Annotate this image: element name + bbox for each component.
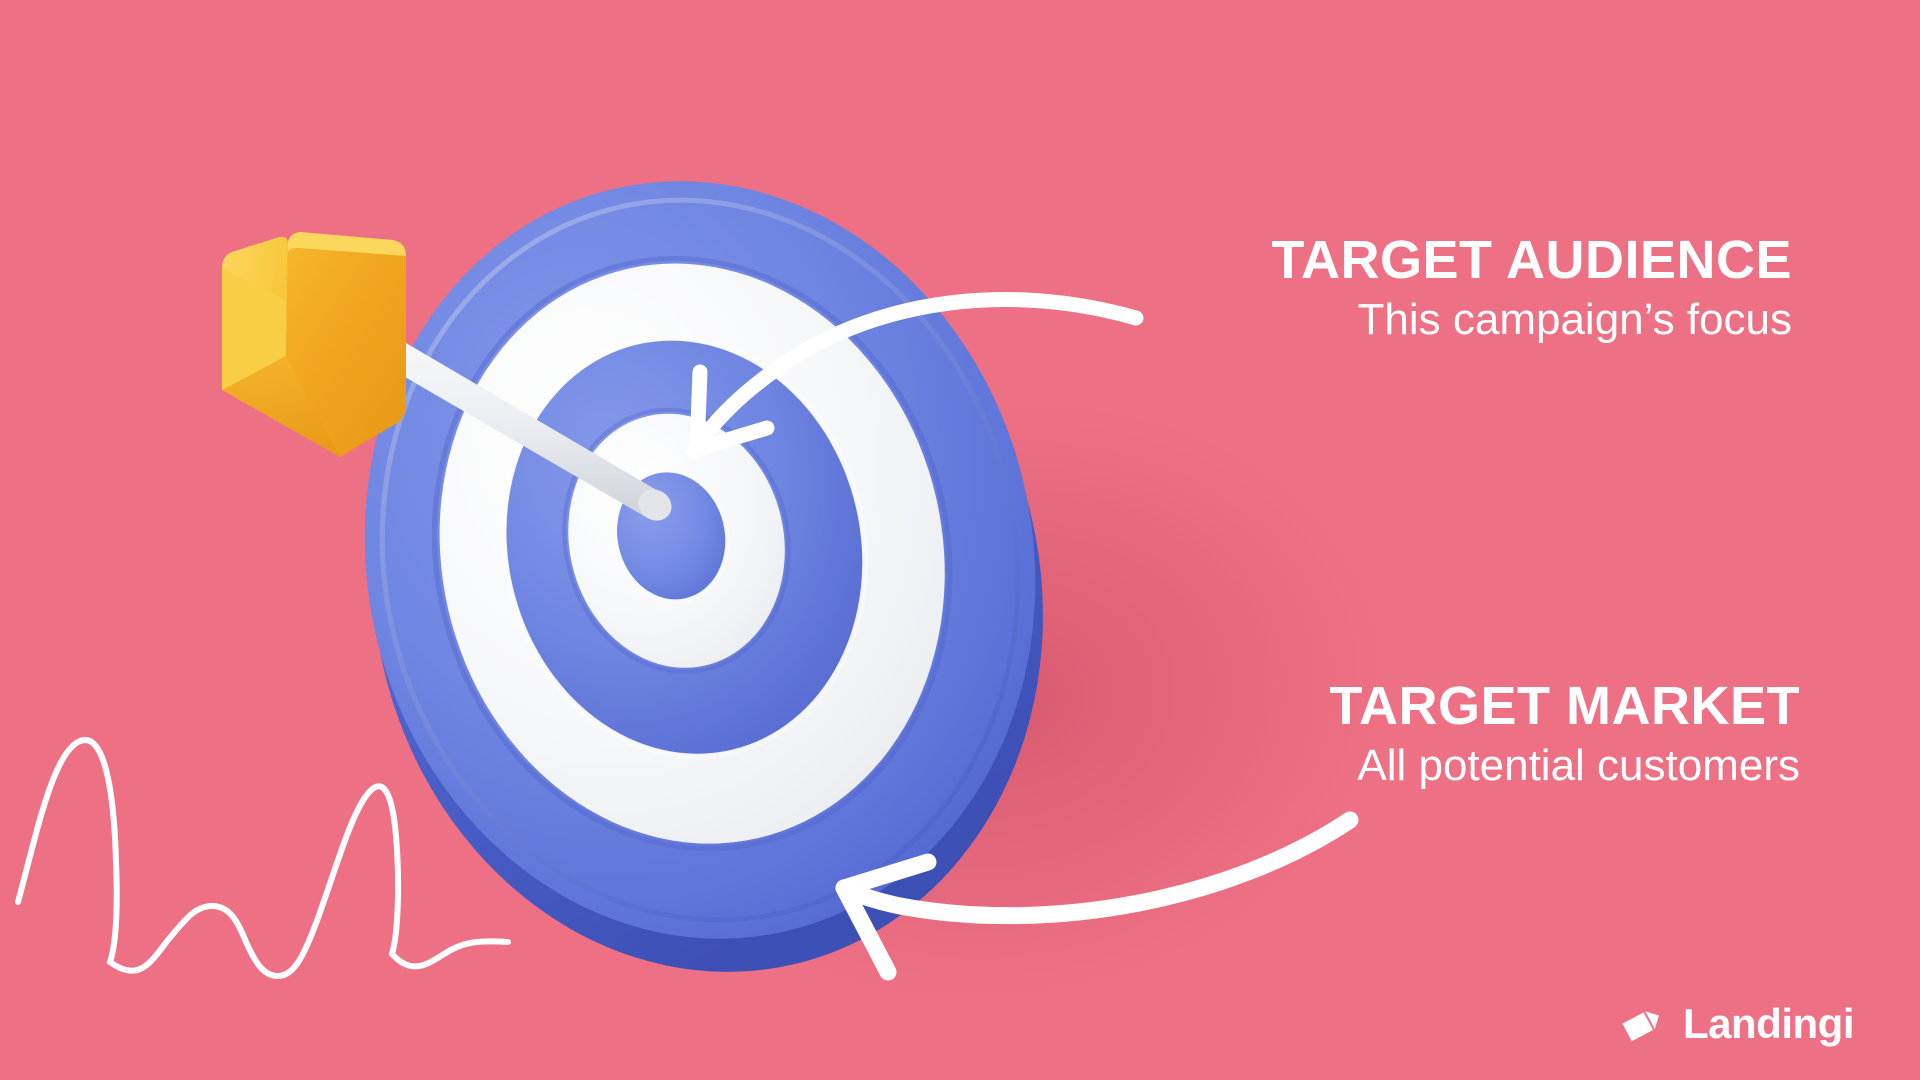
infographic-canvas: TARGET AUDIENCE This campaign’s focus TA… (0, 0, 1920, 1080)
annotation-market-subtitle: All potential customers (1330, 741, 1800, 792)
annotation-audience: TARGET AUDIENCE This campaign’s focus (1272, 232, 1793, 345)
annotation-market-title: TARGET MARKET (1330, 678, 1800, 735)
dart-fletching (222, 232, 406, 457)
annotation-market: TARGET MARKET All potential customers (1330, 678, 1800, 791)
annotation-audience-subtitle: This campaign’s focus (1272, 295, 1793, 346)
brand-wordmark: Landingi (1683, 1003, 1854, 1045)
landingi-diamond-icon (1619, 1000, 1667, 1048)
callout-arrow-audience-head-left (697, 372, 700, 449)
brand-logo: Landingi (1619, 1000, 1854, 1048)
annotation-audience-title: TARGET AUDIENCE (1272, 232, 1793, 289)
illustration-layer (0, 0, 1920, 1080)
